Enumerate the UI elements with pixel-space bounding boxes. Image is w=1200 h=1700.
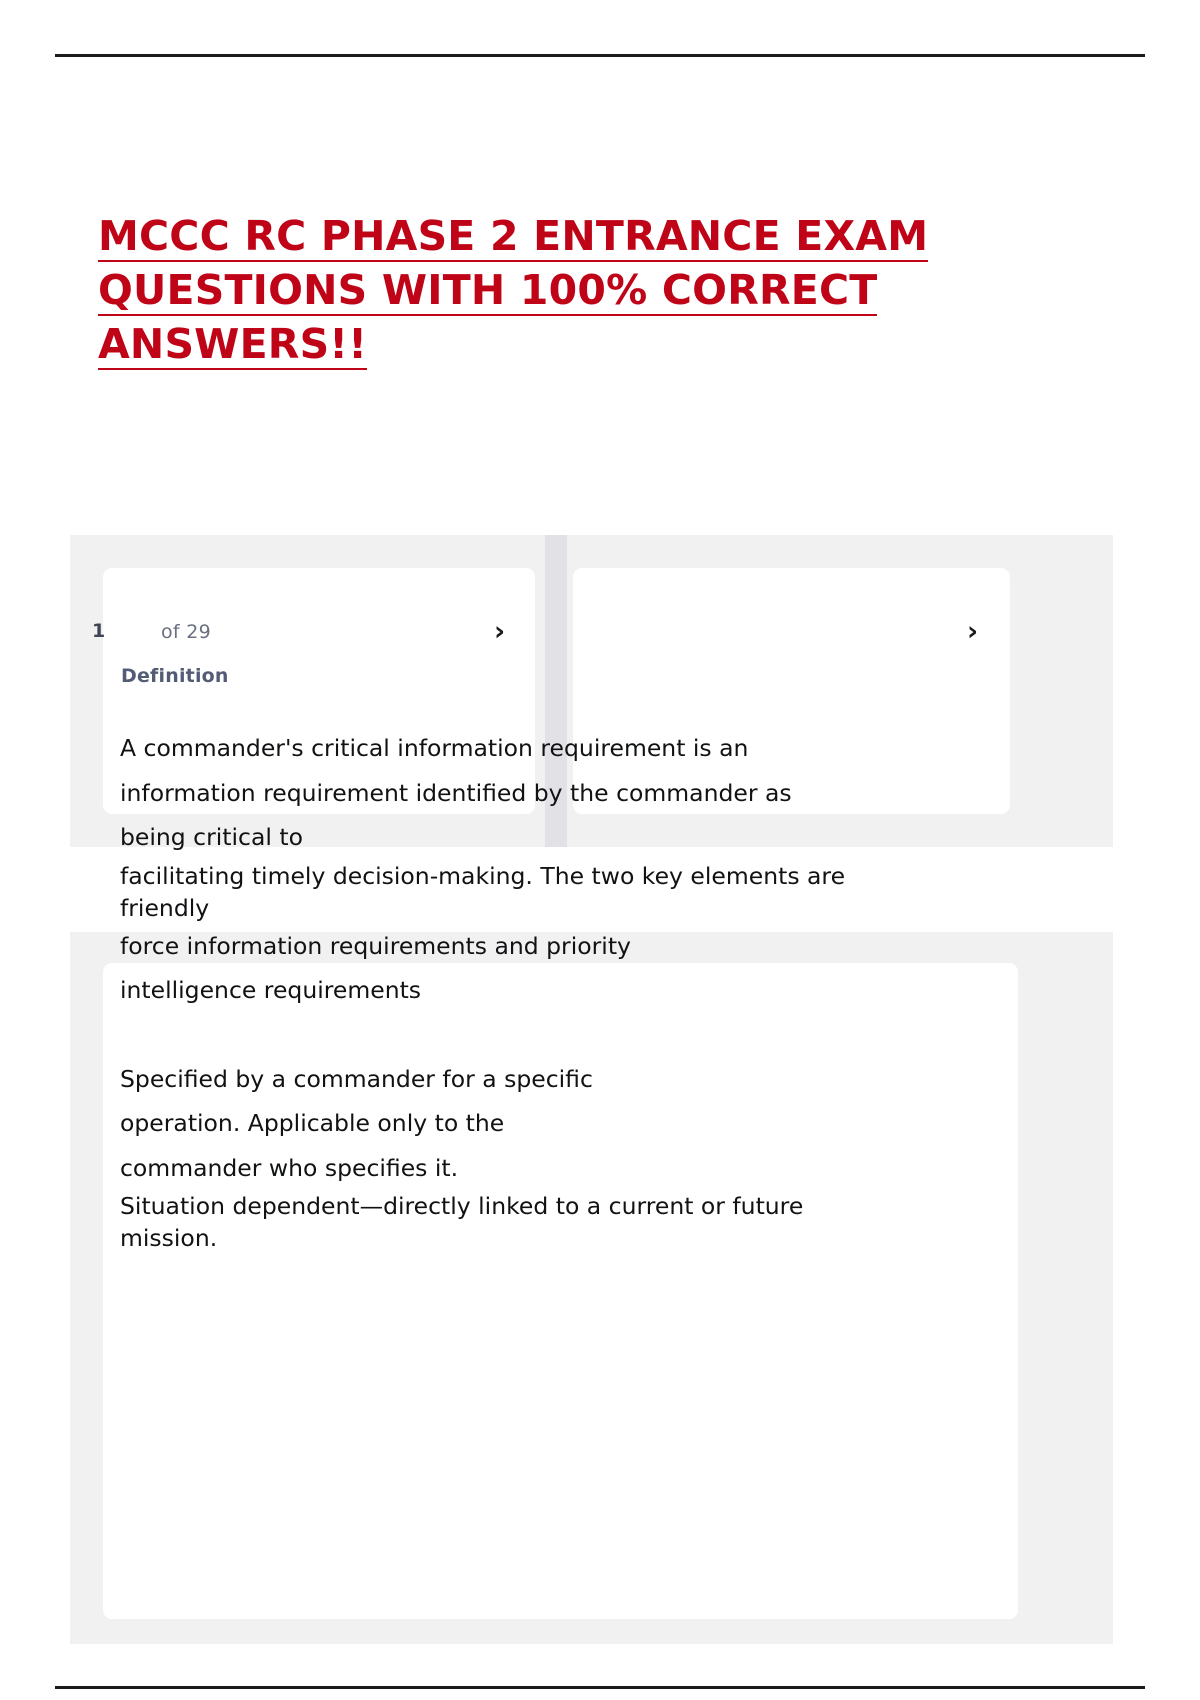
page-title: MCCC RC PHASE 2 ENTRANCE EXAMQUESTIONS W… xyxy=(98,209,1028,371)
page-title-line-3: ANSWERS!! xyxy=(98,320,367,370)
body-line: intelligence requirements xyxy=(120,968,1060,1013)
flashcard-total-count: of 29 xyxy=(161,621,211,643)
body-line: friendly xyxy=(120,892,1060,924)
body-line: facilitating timely decision-making. The… xyxy=(120,860,1060,892)
body-line: A commander's critical information requi… xyxy=(120,726,1060,771)
page-title-line-2: QUESTIONS WITH 100% CORRECT xyxy=(98,266,877,316)
chevron-right-icon-secondary[interactable]: › xyxy=(967,618,978,645)
body-line: Specified by a commander for a specific xyxy=(120,1057,1060,1102)
body-line: Situation dependent—directly linked to a… xyxy=(120,1190,1060,1222)
page-title-line-1: MCCC RC PHASE 2 ENTRANCE EXAM xyxy=(98,212,928,262)
body-line: mission. xyxy=(120,1222,1060,1254)
definition-label: Definition xyxy=(121,665,229,687)
body-line: information requirement identified by th… xyxy=(120,771,1060,816)
body-line: operation. Applicable only to the xyxy=(120,1101,1060,1146)
page-bottom-rule xyxy=(55,1686,1145,1689)
chevron-right-icon[interactable]: › xyxy=(494,618,505,645)
definition-body-text: A commander's critical information requi… xyxy=(120,726,1060,1254)
flashcard-current-index: 1 xyxy=(92,620,106,642)
body-line: commander who specifies it. xyxy=(120,1146,1060,1191)
page-top-rule xyxy=(55,54,1145,57)
body-line: force information requirements and prior… xyxy=(120,924,1060,969)
body-line: being critical to xyxy=(120,815,1060,860)
body-line-spacer xyxy=(120,1013,1060,1057)
